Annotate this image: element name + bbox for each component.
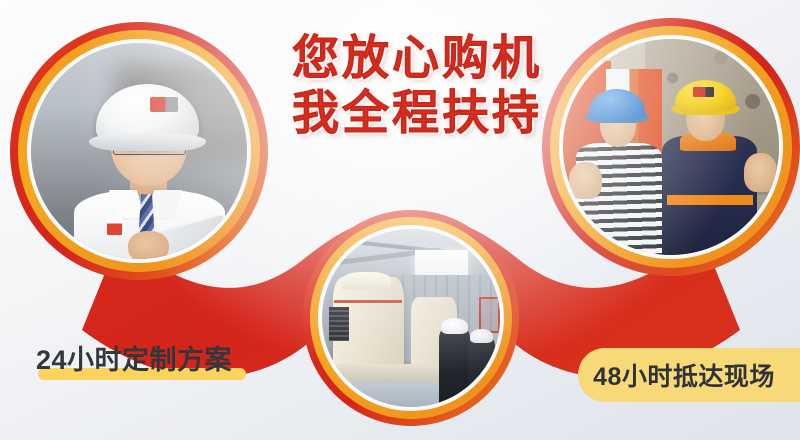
headline-line-2: 我全程扶持 (282, 85, 552, 140)
engineer-photo (31, 43, 247, 259)
headline-line-1: 您放心购机 (282, 30, 552, 85)
workers-photo (563, 39, 779, 255)
caption-left: 24小时定制方案 (36, 338, 232, 377)
caption-left-text: 24小时定制方案 (36, 345, 232, 375)
headline-block: 您放心购机 我全程扶持 (282, 30, 552, 141)
workshop-photo (322, 229, 500, 407)
caption-right-text: 48小时抵达现场 (593, 357, 775, 393)
promo-banner: 您放心购机 我全程扶持 24小时定制方案 48小时抵达现场 (0, 0, 800, 440)
caption-right-badge: 48小时抵达现场 (578, 348, 800, 402)
